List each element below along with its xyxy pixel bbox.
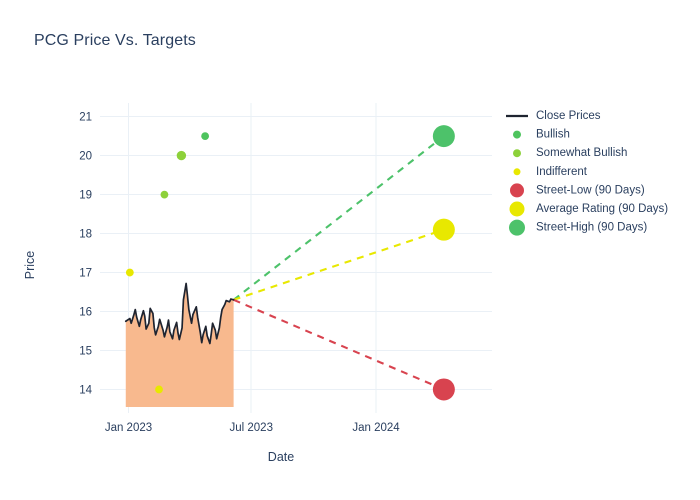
target-marker[interactable] bbox=[433, 378, 455, 400]
rating-point[interactable] bbox=[177, 151, 186, 160]
chart-plot-area: 1415161718192021 Jan 2023Jul 2023Jan 202… bbox=[0, 0, 700, 500]
rating-point[interactable] bbox=[201, 132, 209, 140]
legend-item-label[interactable]: Average Rating (90 Days) bbox=[536, 203, 668, 215]
x-axis-tick-labels: Jan 2023Jul 2023Jan 2024 bbox=[105, 422, 400, 434]
y-tick-label: 20 bbox=[79, 151, 92, 163]
legend-item-label[interactable]: Close Prices bbox=[536, 110, 601, 122]
x-axis-title: Date bbox=[268, 450, 294, 464]
rating-point[interactable] bbox=[155, 386, 163, 394]
x-tick-label: Jan 2024 bbox=[352, 422, 400, 434]
legend-dot-swatch bbox=[510, 202, 525, 217]
target-trend-line bbox=[234, 230, 444, 300]
price-area bbox=[126, 283, 234, 407]
rating-point[interactable] bbox=[126, 269, 134, 277]
legend-item-label[interactable]: Somewhat Bullish bbox=[536, 147, 627, 159]
y-tick-label: 18 bbox=[79, 229, 92, 241]
legend-dot-swatch bbox=[513, 149, 521, 157]
legend-item-label[interactable]: Indifferent bbox=[536, 166, 588, 178]
y-tick-label: 21 bbox=[79, 112, 92, 124]
y-axis-tick-labels: 1415161718192021 bbox=[79, 112, 92, 397]
legend-item-label[interactable]: Street-High (90 Days) bbox=[536, 222, 647, 234]
target-trend-line bbox=[234, 300, 444, 390]
y-tick-label: 19 bbox=[79, 190, 92, 202]
x-tick-label: Jan 2023 bbox=[105, 422, 152, 434]
target-marker[interactable] bbox=[433, 125, 455, 147]
x-tick-label: Jul 2023 bbox=[229, 422, 272, 434]
rating-point[interactable] bbox=[161, 191, 169, 199]
chart-legend[interactable]: Close PricesBullishSomewhat BullishIndif… bbox=[506, 110, 668, 236]
y-tick-label: 14 bbox=[79, 384, 92, 396]
y-tick-label: 15 bbox=[79, 345, 92, 357]
legend-item-label[interactable]: Street-Low (90 Days) bbox=[536, 184, 645, 196]
legend-dot-swatch bbox=[513, 131, 521, 139]
y-tick-label: 16 bbox=[79, 307, 92, 319]
target-trend-line bbox=[234, 136, 444, 300]
target-markers bbox=[433, 125, 455, 400]
legend-dot-swatch bbox=[510, 183, 524, 197]
target-marker[interactable] bbox=[433, 219, 455, 241]
y-axis-title: Price bbox=[23, 251, 37, 280]
chart-container: PCG Price Vs. Targets 1415161718192021 J… bbox=[0, 0, 700, 500]
target-trend-lines bbox=[234, 136, 444, 389]
price-area-fill bbox=[126, 283, 234, 407]
legend-dot-swatch bbox=[509, 220, 525, 236]
legend-dot-swatch bbox=[514, 168, 521, 175]
y-tick-label: 17 bbox=[79, 268, 92, 280]
legend-item-label[interactable]: Bullish bbox=[536, 129, 570, 141]
